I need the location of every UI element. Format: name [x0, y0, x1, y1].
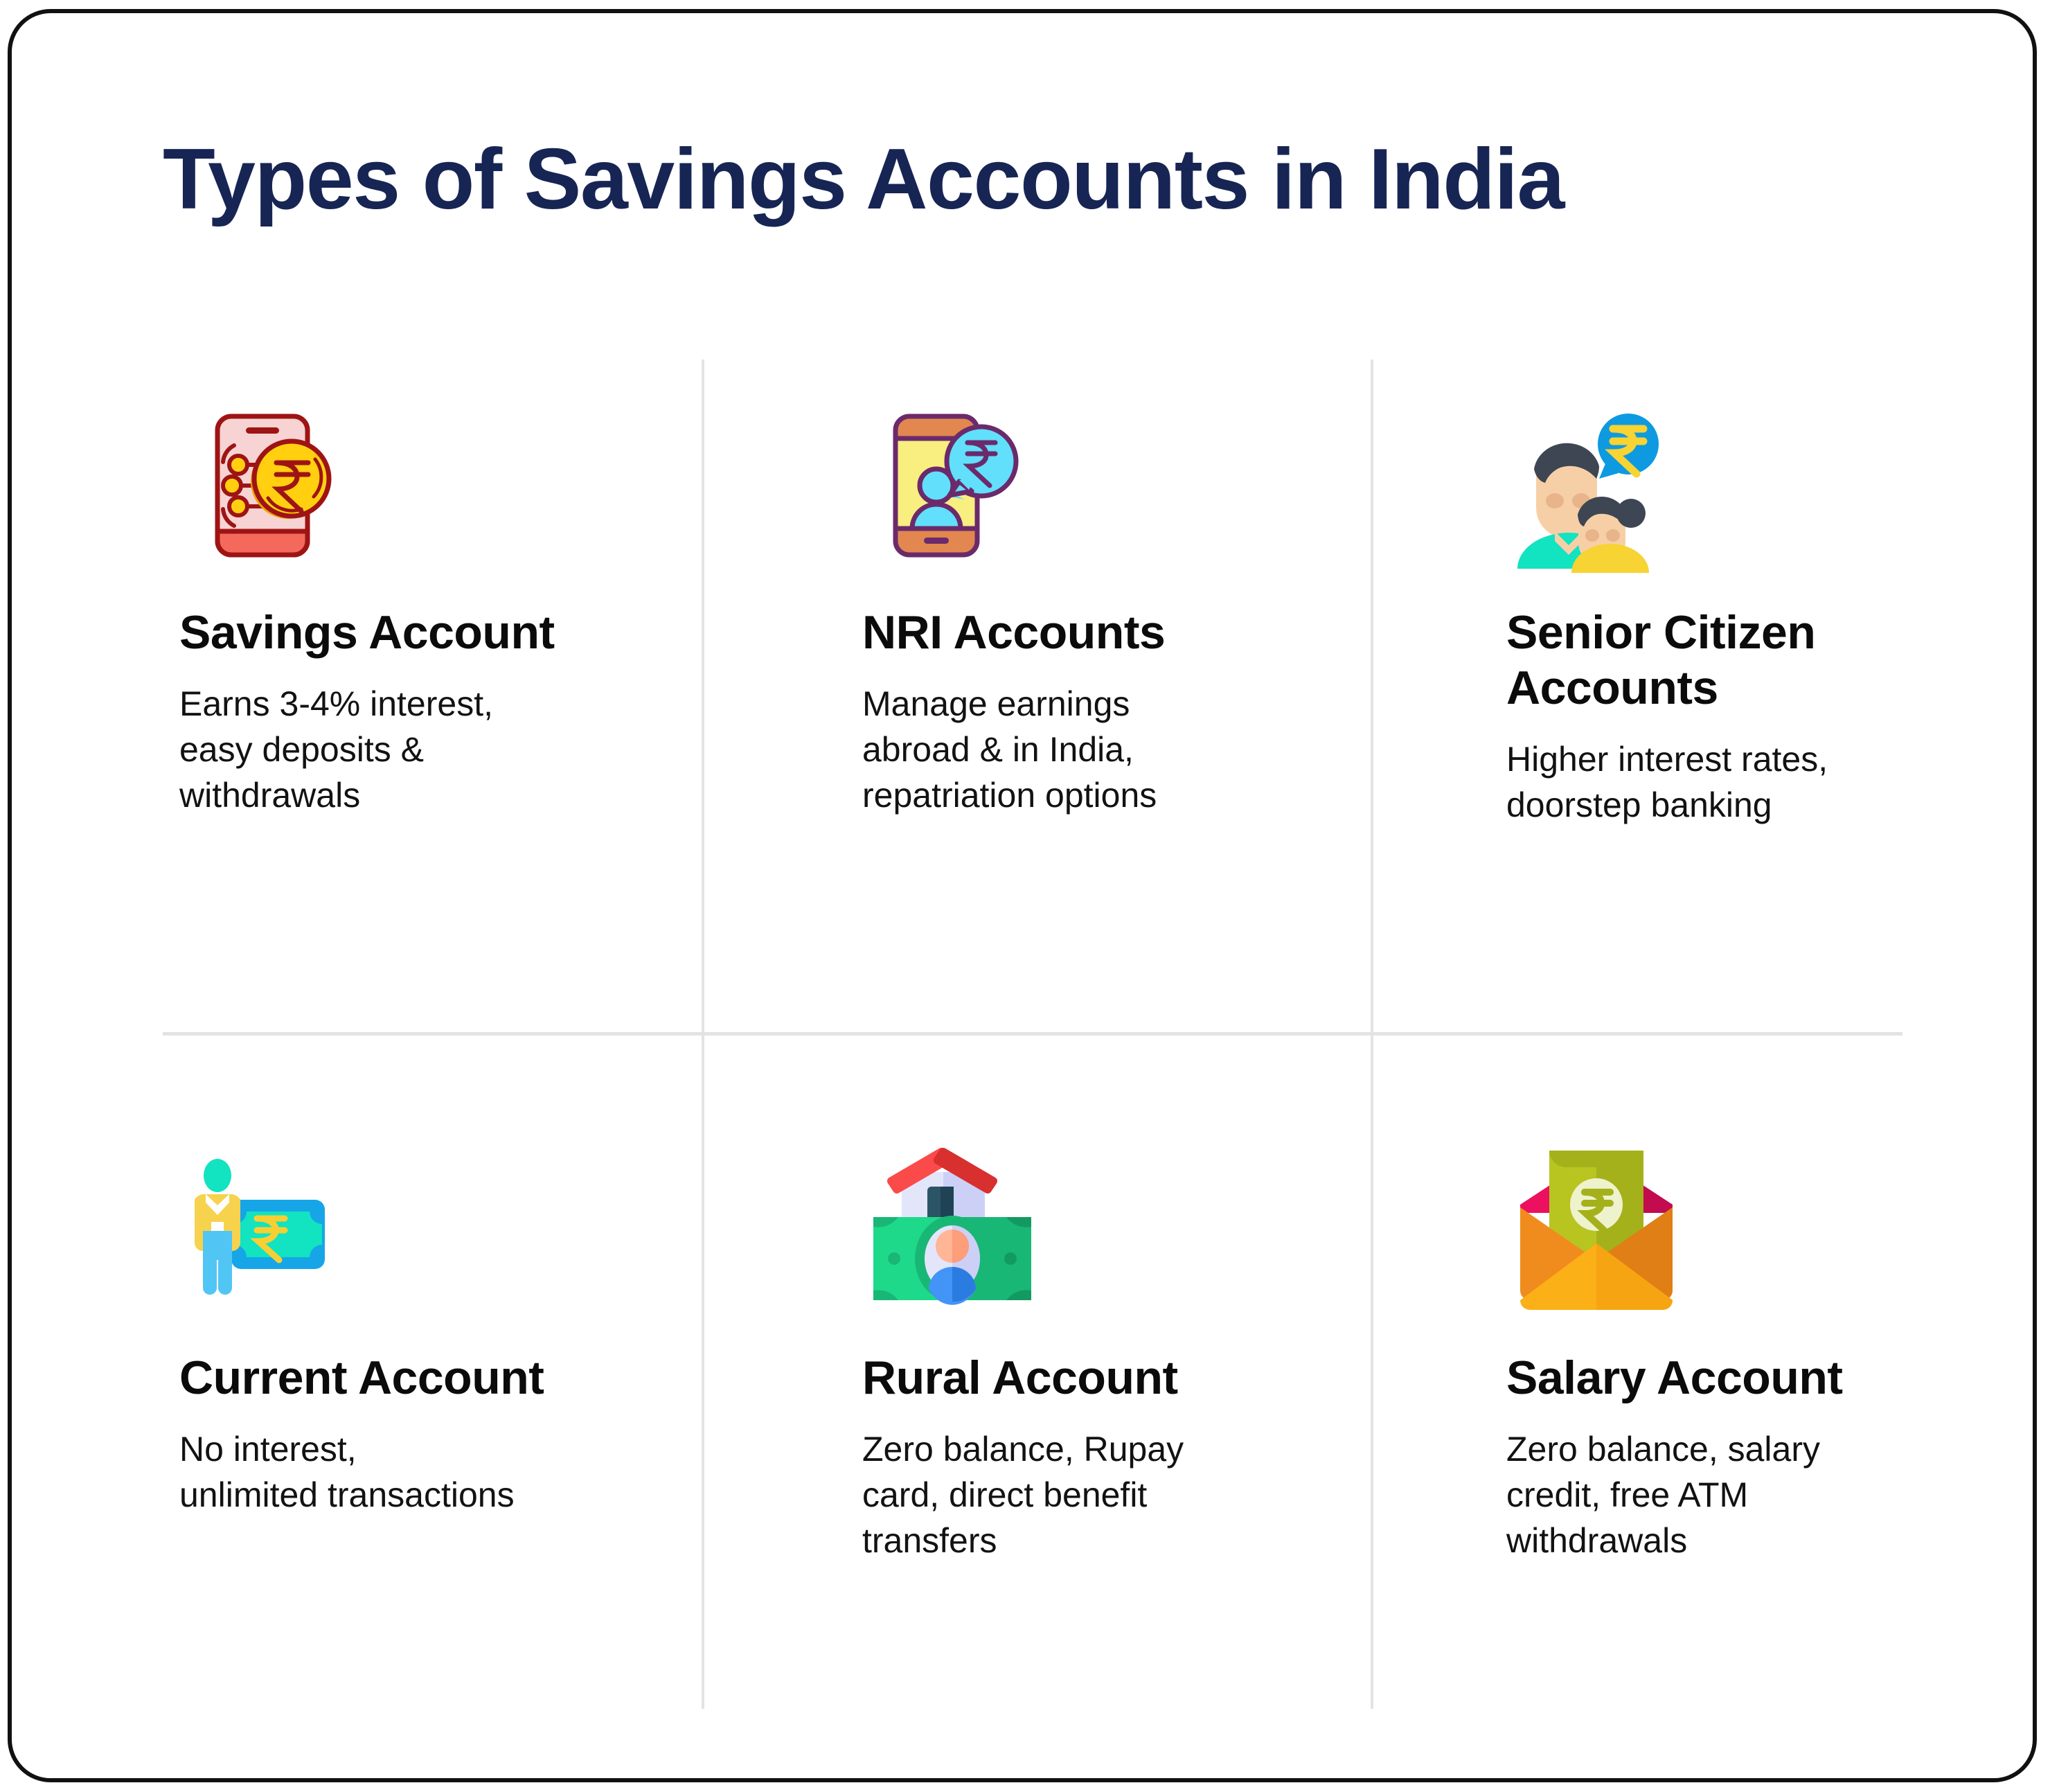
house-banknote-icon	[862, 1141, 1042, 1321]
card-description: Higher interest rates, doorstep banking	[1506, 736, 2033, 828]
card-description: Zero balance, Rupay card, direct benefit…	[862, 1426, 1389, 1563]
card-rural-account: Rural Account Zero balance, Rupay card, …	[862, 1141, 1389, 1563]
card-senior-citizen-accounts: Senior Citizen Accounts Higher interest …	[1506, 396, 2033, 828]
card-grid: Savings Account Earns 3-4% interest, eas…	[12, 13, 2033, 1778]
person-holding-banknote-icon	[179, 1141, 359, 1321]
card-description: Zero balance, salary credit, free ATM wi…	[1506, 1426, 2033, 1563]
card-title: Savings Account	[179, 605, 706, 660]
card-description: No interest, unlimited transactions	[179, 1426, 706, 1518]
envelope-banknote-icon	[1506, 1141, 1686, 1321]
card-description: Earns 3-4% interest, easy deposits & wit…	[179, 681, 706, 818]
card-description: Manage earnings abroad & in India, repat…	[862, 681, 1389, 818]
card-current-account: Current Account No interest, unlimited t…	[179, 1141, 706, 1518]
card-title: NRI Accounts	[862, 605, 1389, 660]
infographic-frame: Types of Savings Accounts in India	[8, 9, 2037, 1782]
card-title: Senior Citizen Accounts	[1506, 605, 2033, 716]
card-nri-accounts: NRI Accounts Manage earnings abroad & in…	[862, 396, 1389, 818]
card-title: Rural Account	[862, 1350, 1389, 1405]
phone-user-rupee-bubble-icon	[862, 396, 1042, 576]
card-salary-account: Salary Account Zero balance, salary cred…	[1506, 1141, 2033, 1563]
card-title: Salary Account	[1506, 1350, 2033, 1405]
card-savings-account: Savings Account Earns 3-4% interest, eas…	[179, 396, 706, 818]
phone-rupee-coin-icon	[179, 396, 359, 576]
elderly-couple-rupee-bubble-icon	[1509, 396, 1689, 576]
card-title: Current Account	[179, 1350, 706, 1405]
